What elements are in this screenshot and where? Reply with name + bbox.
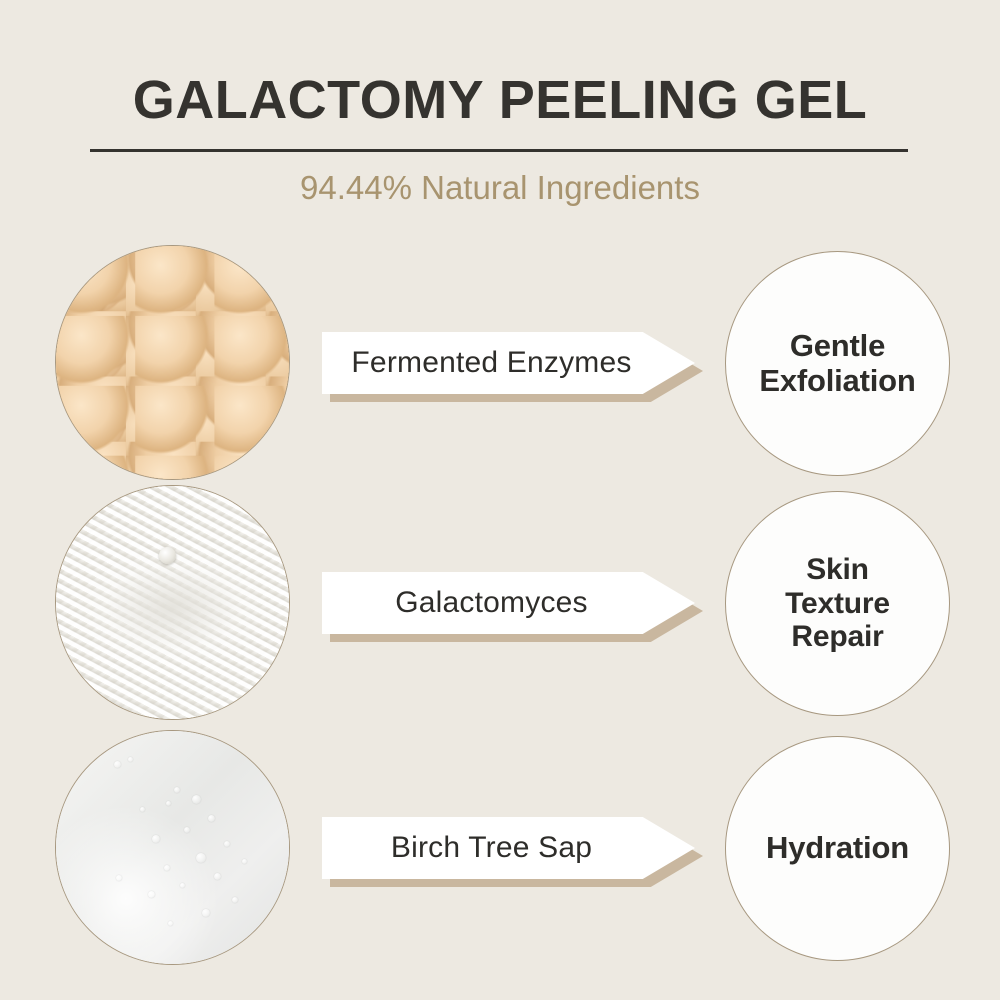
gel-bubble — [242, 859, 247, 864]
ingredient-label: Galactomyces — [395, 586, 621, 620]
benefit-line-1: Hydration — [766, 830, 909, 865]
gel-bubble — [152, 835, 160, 843]
benefit-line-2: Texture — [785, 587, 890, 620]
gel-bubble — [166, 801, 171, 806]
gel-bubble — [180, 883, 185, 888]
benefit-label: Skin Texture Repair — [775, 553, 900, 654]
banner-face: Galactomyces — [322, 572, 695, 634]
gel-texture — [56, 731, 289, 964]
page-subtitle: 94.44% Natural Ingredients — [0, 166, 1000, 210]
rice-texture — [56, 486, 289, 719]
ingredient-label: Fermented Enzymes — [351, 346, 665, 380]
gel-bubble — [208, 815, 215, 822]
banner-face: Fermented Enzymes — [322, 332, 695, 394]
ingredient-banner-1: Fermented Enzymes — [322, 332, 704, 404]
benefit-line-1: Gentle — [790, 328, 885, 363]
gel-bubble — [192, 795, 201, 804]
gel-bubble — [174, 787, 180, 793]
benefit-line-1: Skin — [806, 553, 869, 586]
ingredient-row-1: Fermented Enzymes Gentle Exfoliation — [0, 243, 1000, 483]
benefit-line-3: Repair — [791, 620, 883, 653]
gel-bubble — [202, 909, 210, 917]
gel-photo — [55, 730, 290, 965]
benefit-circle-1: Gentle Exfoliation — [725, 251, 950, 476]
gel-bubble — [232, 897, 238, 903]
rice-photo — [55, 485, 290, 720]
ingredient-label: Birch Tree Sap — [391, 831, 626, 865]
gel-bubble — [148, 891, 155, 898]
header: GALACTOMY PEELING GEL 94.44% Natural Ing… — [0, 0, 1000, 230]
rice-droplet — [159, 547, 176, 564]
banner-face: Birch Tree Sap — [322, 817, 695, 879]
ingredient-row-3: Birch Tree Sap Hydration — [0, 728, 1000, 968]
benefit-label: Hydration — [756, 831, 919, 866]
gel-bubble — [196, 853, 206, 863]
soybeans-texture — [56, 246, 289, 479]
title-divider — [90, 149, 908, 152]
gel-bubble — [184, 827, 190, 833]
gel-bubble — [214, 873, 221, 880]
soybeans-photo — [55, 245, 290, 480]
ingredient-row-2: Galactomyces Skin Texture Repair — [0, 483, 1000, 723]
gel-bubble — [140, 807, 145, 812]
gel-bubble — [114, 761, 121, 768]
gel-bubble — [128, 757, 133, 762]
benefit-label: Gentle Exfoliation — [749, 329, 925, 398]
gel-bubble — [116, 875, 122, 881]
benefit-circle-2: Skin Texture Repair — [725, 491, 950, 716]
ingredient-banner-3: Birch Tree Sap — [322, 817, 704, 889]
benefit-circle-3: Hydration — [725, 736, 950, 961]
gel-bubble — [224, 841, 230, 847]
page-title: GALACTOMY PEELING GEL — [0, 68, 1000, 132]
benefit-line-2: Exfoliation — [759, 363, 915, 398]
gel-bubble — [164, 865, 170, 871]
gel-bubble — [168, 921, 173, 926]
ingredient-banner-2: Galactomyces — [322, 572, 704, 644]
